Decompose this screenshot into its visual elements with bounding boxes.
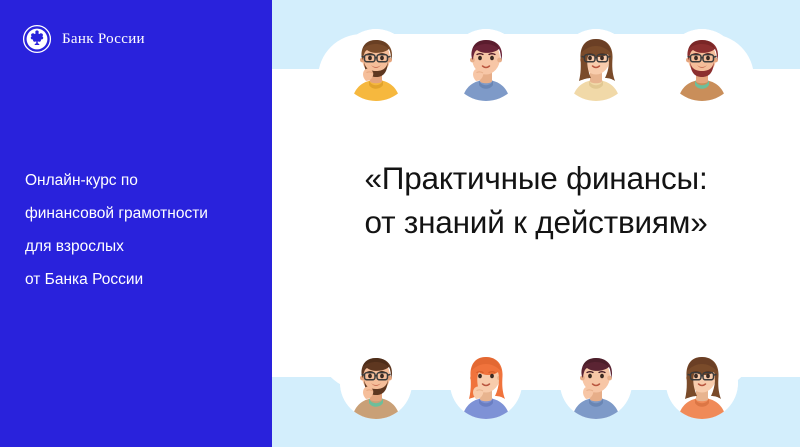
avatar-man-adjusting-glasses [340,347,412,419]
promo-banner: Банк России Онлайн-курс по финансовой гр… [0,0,800,447]
course-title-line-2: от знаний к действиям» [272,200,800,244]
logo-text: Банк России [62,31,145,48]
avatar-woman-glasses-orange-top [666,347,738,419]
avatar-bearded-man-yellow-shirt [340,29,412,101]
avatar-young-man-collared-shirt [560,347,632,419]
promo-line-2: финансовой грамотности [25,197,272,230]
avatar-woman-red-hair-blue-top [450,347,522,419]
bank-of-russia-emblem-icon [22,24,52,54]
course-title-line-1: «Практичные финансы: [272,156,800,200]
avatar-bearded-man-green-turtleneck [666,29,738,101]
promo-line-3: для взрослых [25,230,272,263]
course-title: «Практичные финансы: от знаний к действи… [272,156,800,244]
avatar-woman-long-hair-glasses [560,29,632,101]
avatar-young-man-blue-shirt [450,29,522,101]
promo-text-block: Онлайн-курс по финансовой грамотности дл… [25,164,272,296]
left-blue-panel: Банк России Онлайн-курс по финансовой гр… [0,0,272,447]
promo-line-1: Онлайн-курс по [25,164,272,197]
promo-line-4: от Банка России [25,263,272,296]
right-content-panel: «Практичные финансы: от знаний к действи… [272,0,800,447]
bank-of-russia-logo: Банк России [22,24,145,54]
